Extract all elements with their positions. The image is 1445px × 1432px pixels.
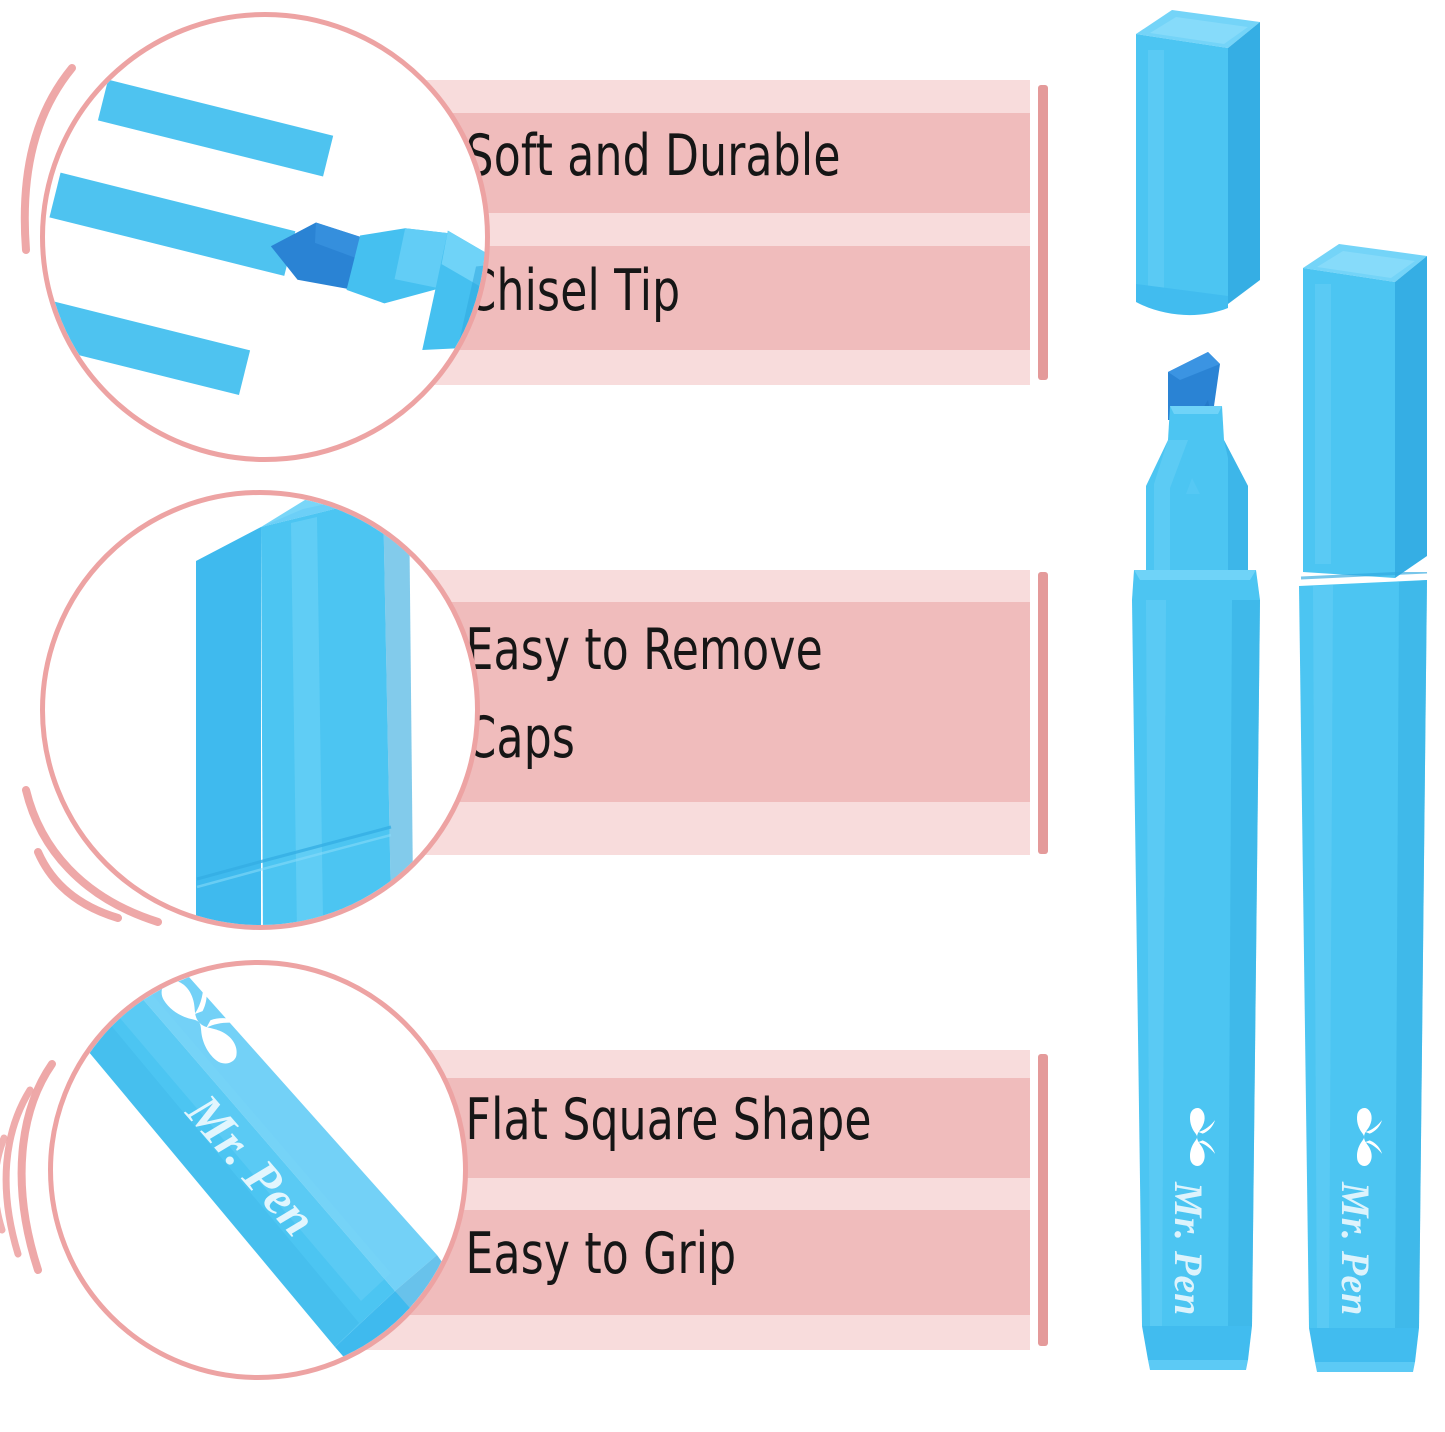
feature-circle-1	[40, 12, 490, 462]
accent-bar-1	[1038, 85, 1048, 380]
chisel-tip-marker	[236, 189, 490, 424]
cap-body-icon	[141, 490, 441, 930]
feature-circle-2	[40, 490, 480, 930]
mustache-icon	[1146, 1106, 1256, 1168]
brand-logo-text: Mr. Pen	[1332, 1182, 1379, 1315]
infographic-canvas: Soft and Durable Chisel Tip	[0, 0, 1445, 1432]
floating-cap-icon	[1128, 4, 1268, 322]
feature-circle-3: Mr. Pen	[48, 960, 468, 1380]
product-capped-highlighter: Mr. Pen	[1295, 0, 1435, 1432]
marker-nose-cone-icon	[1136, 398, 1260, 578]
accent-bar-3	[1038, 1054, 1048, 1346]
cap-closeup	[141, 490, 441, 930]
brand-logo-text: Mr. Pen	[1165, 1182, 1212, 1315]
feature-row-easy-remove-caps: Easy to Remove Caps	[0, 470, 1100, 950]
highlight-stroke-top	[98, 80, 333, 177]
highlight-stroke-middle	[49, 173, 295, 276]
feature-row-flat-square-shape: Flat Square Shape Easy to Grip	[0, 950, 1100, 1432]
product-uncapped-highlighter: Mr. Pen	[1128, 0, 1268, 1432]
cap-icon	[1295, 238, 1435, 588]
feature-row-chisel-tip: Soft and Durable Chisel Tip	[0, 0, 1100, 470]
mustache-icon	[1313, 1106, 1423, 1168]
highlight-stroke-bottom	[40, 298, 250, 395]
accent-bar-2	[1038, 572, 1048, 854]
barrel-logo-closeup: Mr. Pen	[48, 960, 468, 1380]
